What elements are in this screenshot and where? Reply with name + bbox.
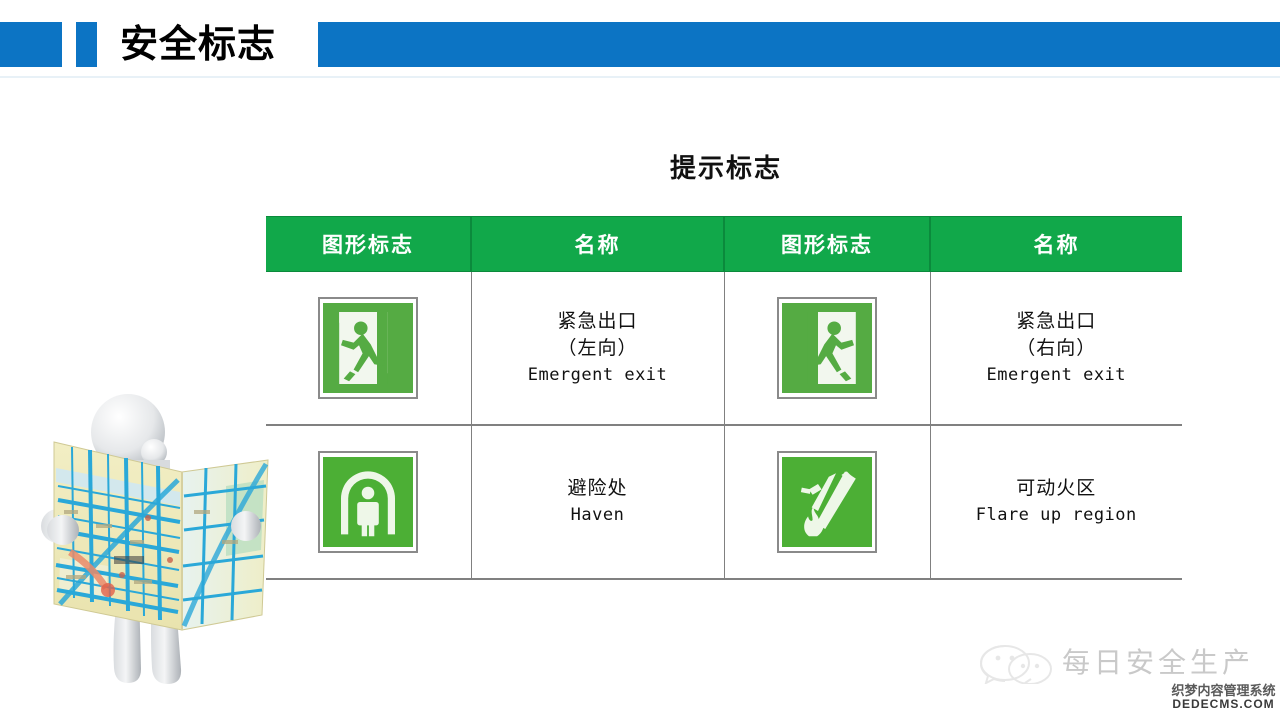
page-title: 安全标志 [120, 17, 320, 73]
sign-name-en: Flare up region [932, 503, 1182, 529]
dedecms-watermark-en: DEDECMS.COM [1167, 698, 1280, 711]
table-row: 紧急出口 （左向） Emergent exit [266, 272, 1182, 426]
sign-cell-exit-right [724, 272, 930, 426]
sign-name-cn: 紧急出口 [473, 308, 723, 336]
emergency-exit-left-icon [318, 297, 418, 399]
haven-shelter-icon [318, 451, 418, 553]
name-cell-haven: 避险处 Haven [471, 425, 724, 579]
table-header-row: 图形标志 名称 图形标志 名称 [266, 217, 1182, 272]
header-underline [0, 76, 1280, 78]
header-accent-block-large [0, 22, 62, 67]
wechat-watermark-text: 每日安全生产 [1062, 641, 1254, 681]
sign-cell-flare-up [724, 425, 930, 579]
page-header: 安全标志 [0, 0, 1280, 90]
header-accent-bar [318, 22, 1280, 67]
table-row: 避险处 Haven [266, 425, 1182, 579]
column-header-name-2: 名称 [930, 217, 1182, 272]
column-header-graphic-1: 图形标志 [266, 217, 471, 272]
dedecms-watermark: 织梦内容管理系统 DEDECMS.COM [1167, 684, 1280, 710]
name-cell-flare-up: 可动火区 Flare up region [930, 425, 1182, 579]
emergency-exit-right-icon [777, 297, 877, 399]
column-header-name-1: 名称 [471, 217, 724, 272]
name-cell-exit-right: 紧急出口 （右向） Emergent exit [930, 272, 1182, 426]
sign-name-en: Emergent exit [932, 363, 1182, 389]
section-title: 提示标志 [0, 148, 1280, 185]
section-title-text: 提示标志 [670, 148, 782, 185]
sign-name-cn-sub: （左向） [473, 335, 723, 363]
flare-up-region-icon [777, 451, 877, 553]
sign-name-cn-sub: （右向） [932, 335, 1182, 363]
name-cell-exit-left: 紧急出口 （左向） Emergent exit [471, 272, 724, 426]
safety-sign-table: 图形标志 名称 图形标志 名称 [266, 216, 1182, 580]
sign-cell-haven [266, 425, 471, 579]
person-holding-map-illustration [30, 390, 280, 705]
column-header-graphic-2: 图形标志 [724, 217, 930, 272]
sign-name-cn: 可动火区 [932, 475, 1182, 503]
dedecms-watermark-cn: 织梦内容管理系统 [1167, 684, 1280, 698]
sign-cell-exit-left [266, 272, 471, 426]
header-accent-block-small [76, 22, 97, 67]
sign-name-en: Emergent exit [473, 363, 723, 389]
sign-name-cn: 避险处 [473, 475, 723, 503]
sign-name-en: Haven [473, 503, 723, 529]
sign-name-cn: 紧急出口 [932, 308, 1182, 336]
